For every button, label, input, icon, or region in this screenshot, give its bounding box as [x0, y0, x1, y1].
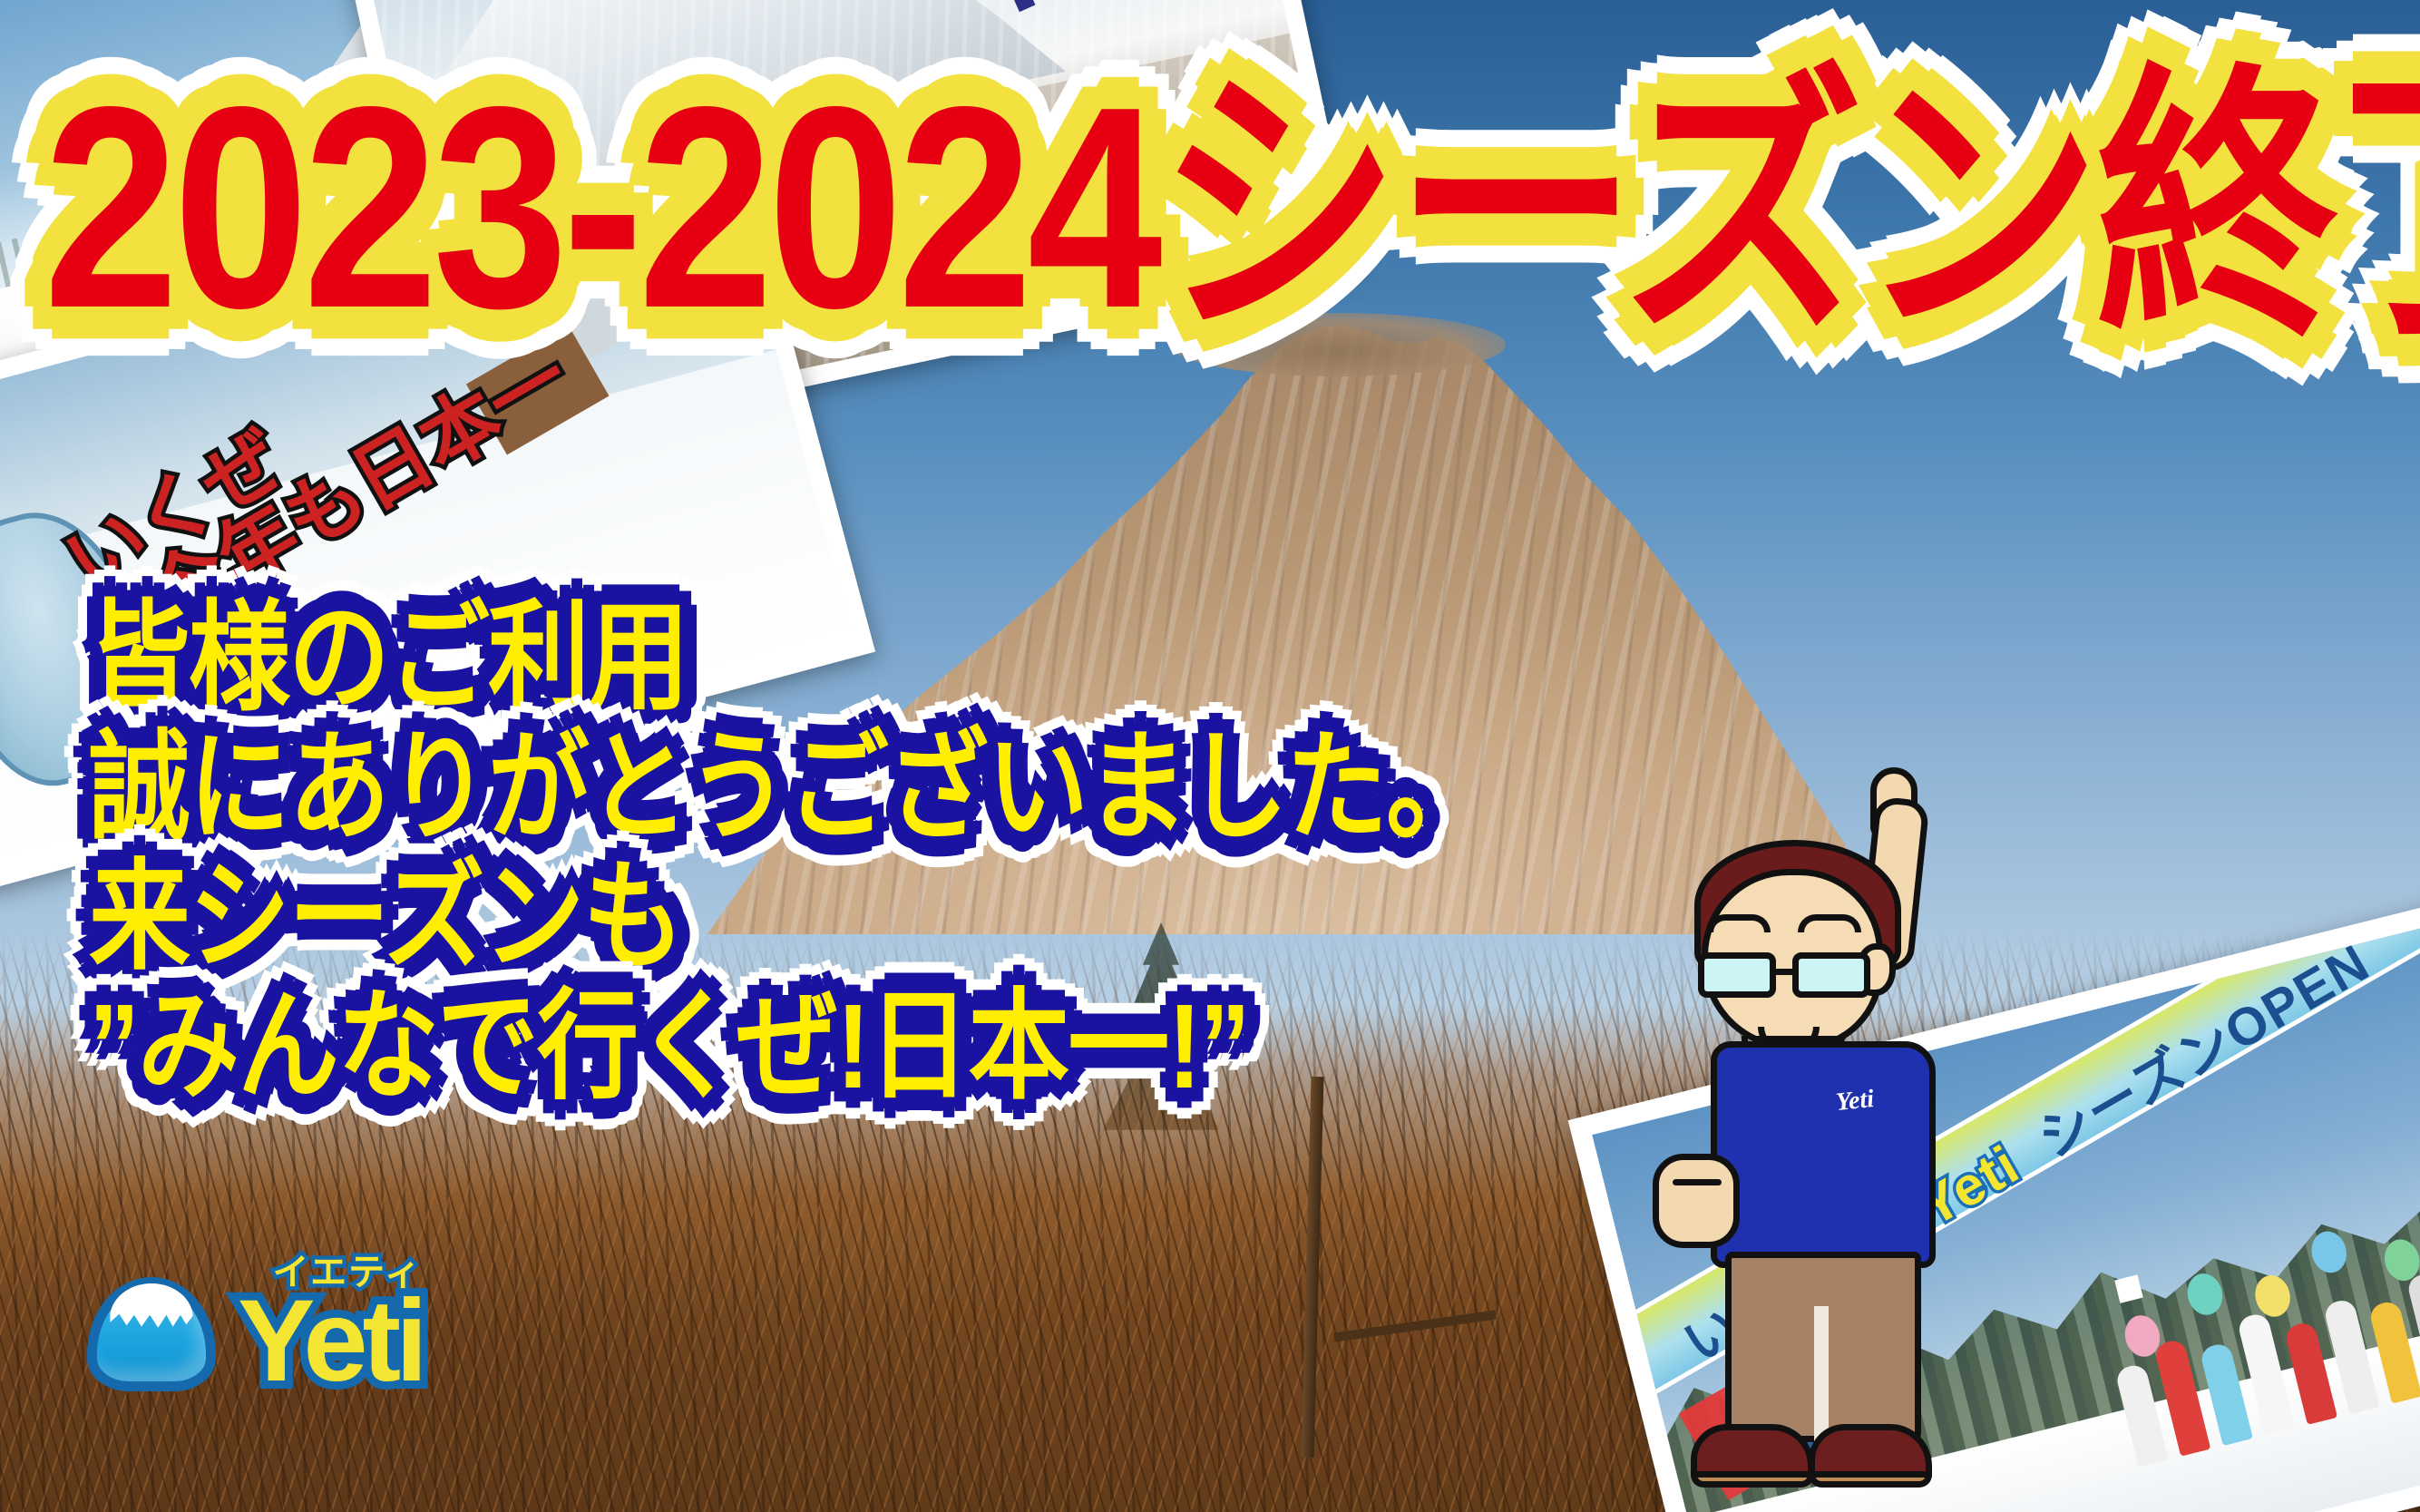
character-shirt-logo: Yeti	[1834, 1085, 1875, 1117]
fuji-snow-cap	[110, 1283, 192, 1336]
character-eyebrow-left	[1707, 914, 1771, 932]
thank-you-message: 皆様のご利用 誠にありがとうございました。 来シーズンも ”みんなで行くぜ!日本…	[89, 594, 1486, 1112]
balloon-blue-icon	[2308, 1228, 2351, 1277]
message-line-3: 来シーズンも	[89, 853, 1486, 982]
yeti-logo[interactable]: イエティ Yeti	[87, 1277, 432, 1391]
yeti-wordmark-text: Yeti	[238, 1276, 423, 1406]
message-line-1: 皆様のご利用	[89, 594, 1486, 724]
crowd-person	[2368, 1300, 2420, 1404]
character-fist-crease	[1673, 1179, 1722, 1185]
yeti-staff-character: Yeti	[1642, 798, 2059, 1379]
message-line-2: 誠にありがとうございました。	[89, 724, 1486, 854]
glasses-lens-left	[1698, 952, 1776, 998]
character-eyebrow-right	[1798, 914, 1861, 932]
yeti-wordmark: イエティ Yeti	[238, 1292, 432, 1391]
page-title: 2023-2024シーズン終了	[44, 63, 2402, 350]
balloon-teal-icon	[2183, 1270, 2227, 1319]
glasses-icon	[1698, 952, 1879, 1003]
crowd-person	[2283, 1321, 2337, 1425]
message-line-4: ”みんなで行くぜ!日本一!”	[89, 982, 1486, 1112]
glasses-lens-right	[1792, 952, 1870, 998]
character-fist	[1653, 1154, 1740, 1248]
balloon-yellow-icon	[2251, 1272, 2295, 1321]
character-leg-gap	[1814, 1306, 1829, 1442]
crowd-person	[2114, 1362, 2169, 1467]
yeti-kana-label: イエティ	[272, 1257, 422, 1288]
crowd-person	[2199, 1341, 2253, 1446]
season-end-poster: N いくぜ 今年も日本一	[0, 0, 2420, 1512]
character-sole-left	[1691, 1471, 1814, 1488]
character-sole-right	[1809, 1471, 1932, 1488]
character-shirt	[1711, 1041, 1936, 1268]
mount-fuji-icon	[87, 1277, 216, 1391]
